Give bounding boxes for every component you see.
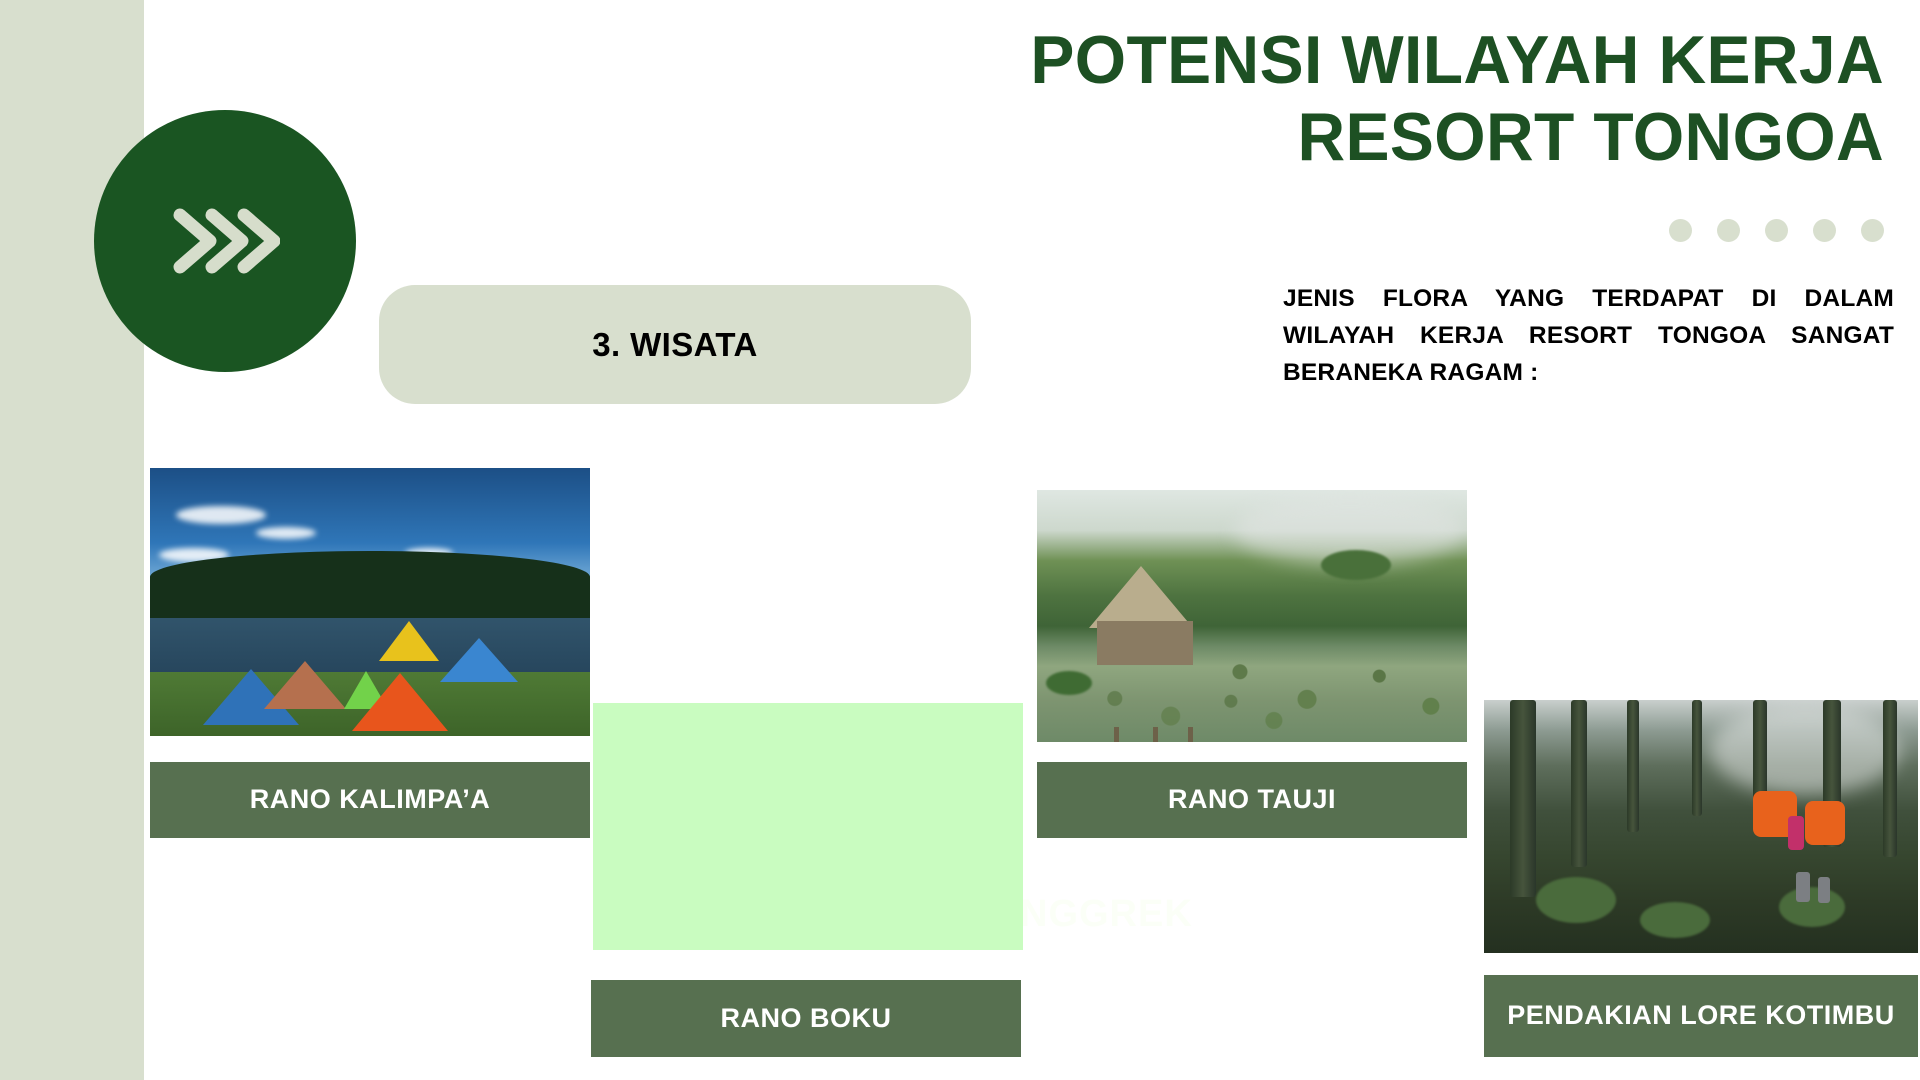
lake-camping-tents-photo bbox=[150, 468, 590, 736]
slide-root: POTENSI WILAYAH KERJA RESORT TONGOA JENI… bbox=[0, 0, 1920, 1080]
caption-tauji-label: RANO TAUJI bbox=[1168, 783, 1336, 817]
decorative-dots bbox=[1669, 219, 1884, 242]
card-image-boku[interactable] bbox=[593, 703, 1023, 950]
dot-5 bbox=[1861, 219, 1884, 242]
caption-kalimpaa: RANO KALIMPA’A bbox=[150, 762, 590, 838]
caption-boku: RANO BOKU bbox=[591, 980, 1021, 1057]
section-pill-label: 3. WISATA bbox=[592, 326, 758, 364]
thatched-stilt-hut-lake-photo bbox=[1037, 490, 1467, 742]
mossy-forest-hikers-photo bbox=[1484, 700, 1918, 953]
caption-boku-label: RANO BOKU bbox=[721, 1002, 892, 1036]
caption-kotimbu: PENDAKIAN LORE KOTIMBU bbox=[1484, 975, 1918, 1057]
caption-kalimpaa-label: RANO KALIMPA’A bbox=[250, 783, 491, 817]
section-pill[interactable]: 3. WISATA bbox=[379, 285, 971, 404]
page-title-line-1: POTENSI WILAYAH KERJA bbox=[788, 22, 1884, 99]
intro-paragraph: JENIS FLORA YANG TERDAPAT DI DALAM WILAY… bbox=[1283, 280, 1894, 392]
dot-3 bbox=[1765, 219, 1788, 242]
dot-2 bbox=[1717, 219, 1740, 242]
triple-chevron-right-icon bbox=[170, 201, 280, 281]
page-title: POTENSI WILAYAH KERJA RESORT TONGOA bbox=[788, 22, 1884, 176]
page-title-line-2: RESORT TONGOA bbox=[788, 99, 1884, 176]
card-image-kotimbu[interactable] bbox=[1484, 700, 1918, 953]
ghost-watermark-text: NGGREK bbox=[1020, 893, 1193, 936]
mint-placeholder-block bbox=[593, 703, 1023, 950]
chevron-badge[interactable] bbox=[94, 110, 356, 372]
card-image-kalimpaa[interactable] bbox=[150, 468, 590, 736]
caption-tauji: RANO TAUJI bbox=[1037, 762, 1467, 838]
dot-1 bbox=[1669, 219, 1692, 242]
dot-4 bbox=[1813, 219, 1836, 242]
card-image-tauji[interactable] bbox=[1037, 490, 1467, 742]
caption-kotimbu-label: PENDAKIAN LORE KOTIMBU bbox=[1507, 999, 1895, 1033]
